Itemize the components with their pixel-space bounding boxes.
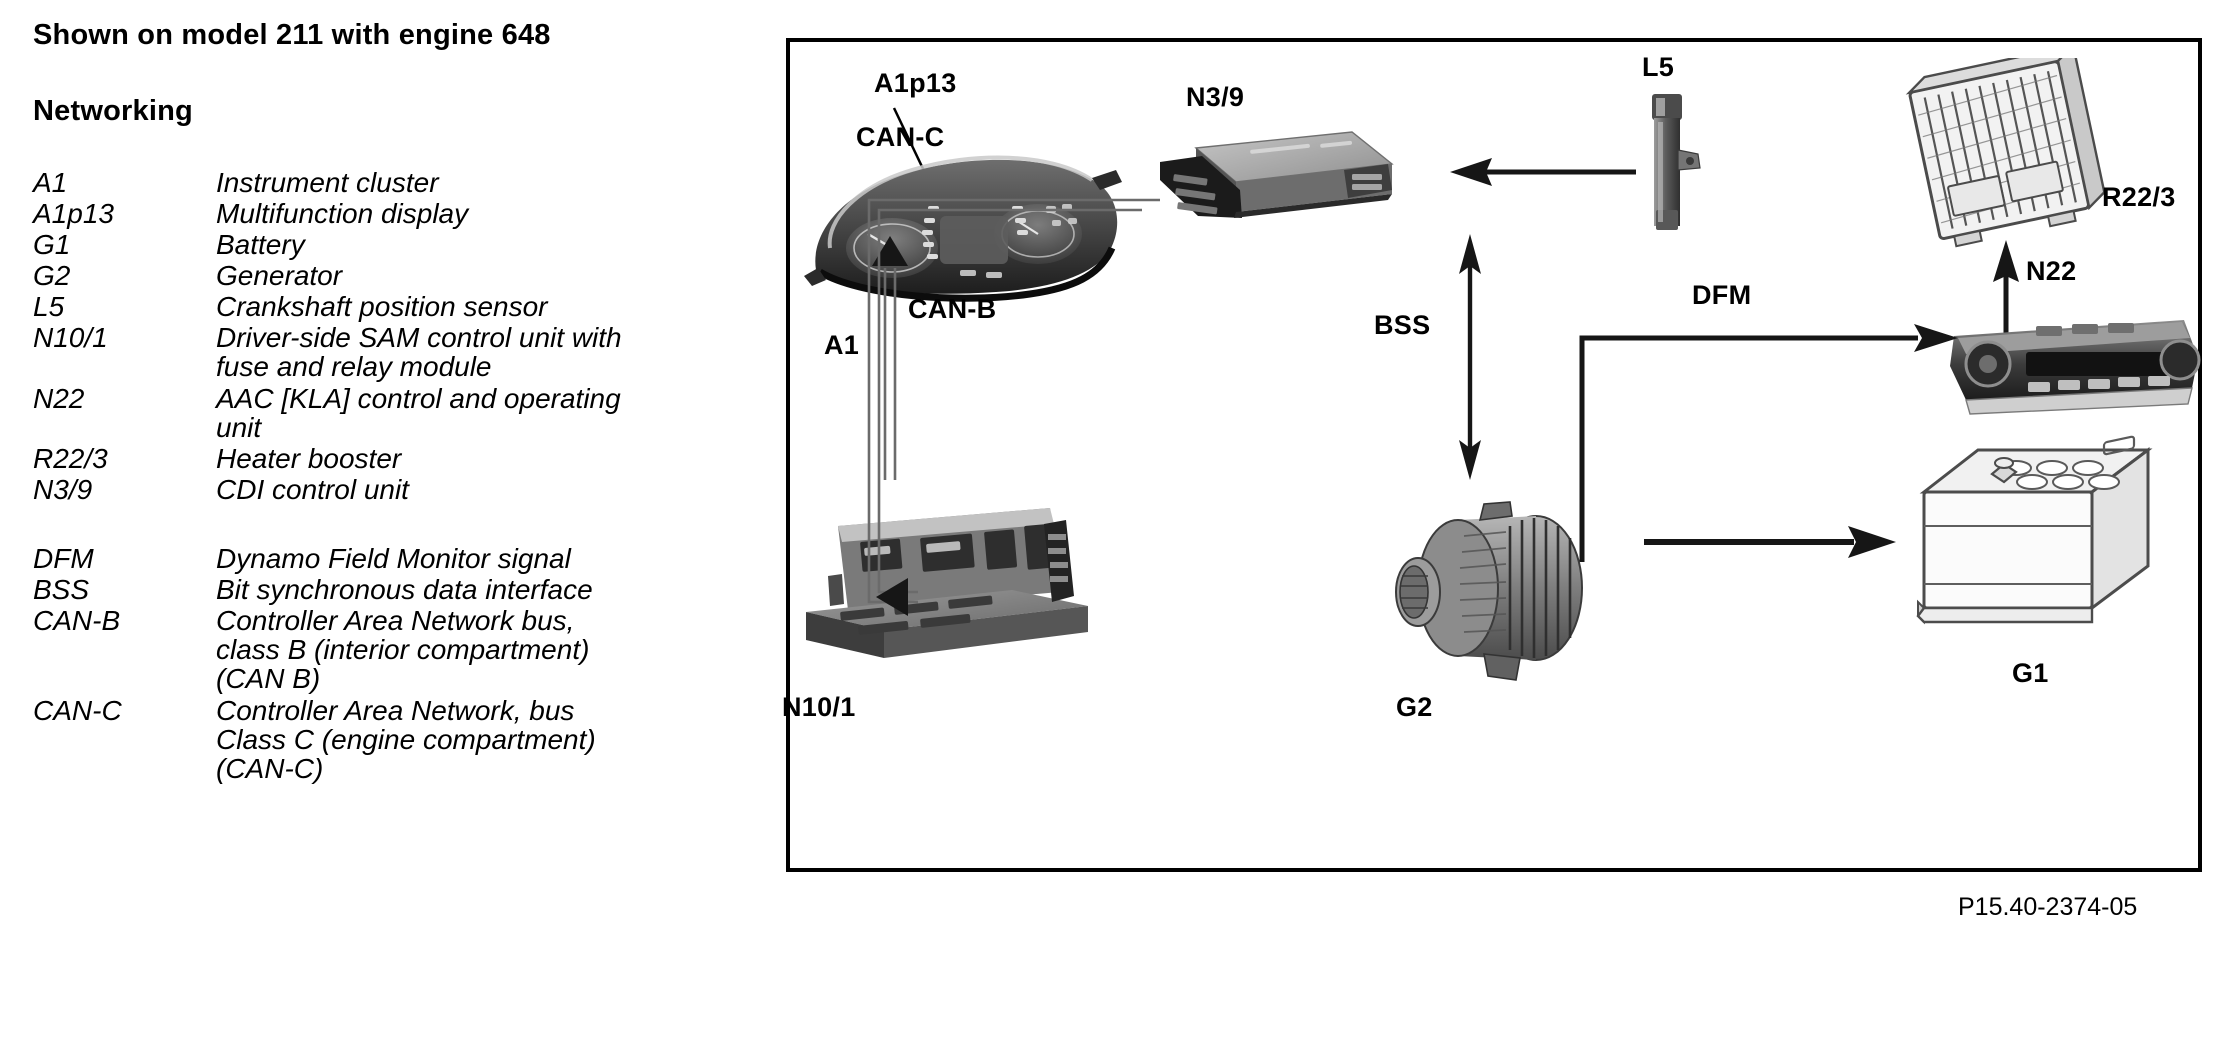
legend-description: Crankshaft position sensor <box>216 292 622 323</box>
generator-image <box>1388 490 1618 690</box>
legend-description: Heater booster <box>216 444 622 475</box>
figure-caption: P15.40-2374-05 <box>1958 893 2137 922</box>
legend-row: CAN-BController Area Network bus, class … <box>33 606 622 695</box>
diagram-panel: A1p13 <box>786 38 2202 872</box>
legend-row: G1Battery <box>33 230 622 261</box>
legend-spacer <box>33 506 622 544</box>
legend-code: CAN-C <box>33 696 216 785</box>
legend-row: N10/1Driver-side SAM control unit with f… <box>33 323 622 383</box>
bss-arrow <box>1450 232 1490 482</box>
legend-code: N10/1 <box>33 323 216 383</box>
legend-row: N22AAC [KLA] control and operating unit <box>33 384 622 444</box>
diagram-label-g2: G2 <box>1396 692 1433 723</box>
legend-description: Multifunction display <box>216 199 622 230</box>
legend-code: N3/9 <box>33 475 216 506</box>
connection-label-dfm: DFM <box>1692 280 1751 311</box>
diagram-label-g1: G1 <box>2012 658 2049 689</box>
diagram-label-l5: L5 <box>1642 52 1674 83</box>
diagram-label-n3-9: N3/9 <box>1186 82 1244 113</box>
legend-row: R22/3Heater booster <box>33 444 622 475</box>
diagram-label-n22: N22 <box>2026 256 2076 287</box>
legend-column: Shown on model 211 with engine 648 Netwo… <box>33 20 733 785</box>
section-title: Networking <box>33 96 733 128</box>
battery-image <box>1900 430 2160 640</box>
legend-row: A1p13Multifunction display <box>33 199 622 230</box>
diagram-label-n10-1: N10/1 <box>782 692 856 723</box>
legend-row: L5Crankshaft position sensor <box>33 292 622 323</box>
legend-description: CDI control unit <box>216 475 622 506</box>
legend-description: Controller Area Network, bus Class C (en… <box>216 696 622 785</box>
diagram-label-a1p13: A1p13 <box>874 68 957 99</box>
legend-description: Dynamo Field Monitor signal <box>216 544 622 575</box>
can-c-arrow <box>790 188 1160 618</box>
legend-code: BSS <box>33 575 216 606</box>
legend-code: R22/3 <box>33 444 216 475</box>
legend-description: Instrument cluster <box>216 168 622 199</box>
legend-code: G2 <box>33 261 216 292</box>
legend-row: CAN-CController Area Network, bus Class … <box>33 696 622 785</box>
legend-code: L5 <box>33 292 216 323</box>
heater-booster-image <box>1890 58 2120 248</box>
cdi-control-unit-image <box>1130 120 1400 250</box>
connection-label-can-c: CAN-C <box>856 122 945 153</box>
legend-description: Generator <box>216 261 622 292</box>
legend-row: A1Instrument cluster <box>33 168 622 199</box>
legend-row: N3/9CDI control unit <box>33 475 622 506</box>
aac-control-unit-image <box>1940 294 2210 424</box>
crankshaft-sensor-image <box>1634 90 1704 235</box>
legend-code: CAN-B <box>33 606 216 695</box>
legend-code: DFM <box>33 544 216 575</box>
legend-row: DFMDynamo Field Monitor signal <box>33 544 622 575</box>
legend-description: AAC [KLA] control and operating unit <box>216 384 622 444</box>
legend-description: Bit synchronous data interface <box>216 575 622 606</box>
generator-to-battery-arrow <box>1640 520 1900 564</box>
connection-label-bss: BSS <box>1374 310 1430 341</box>
page-title: Shown on model 211 with engine 648 <box>33 20 733 52</box>
legend-row: BSSBit synchronous data interface <box>33 575 622 606</box>
legend-code: N22 <box>33 384 216 444</box>
legend-description: Driver-side SAM control unit with fuse a… <box>216 323 622 383</box>
legend-table: A1Instrument clusterA1p13Multifunction d… <box>33 168 622 785</box>
legend-code: A1 <box>33 168 216 199</box>
l5-to-cdi-arrow <box>1448 152 1638 192</box>
legend-description: Battery <box>216 230 622 261</box>
legend-code: G1 <box>33 230 216 261</box>
diagram-label-r22-3: R22/3 <box>2102 182 2176 213</box>
legend-description: Controller Area Network bus, class B (in… <box>216 606 622 695</box>
legend-row: G2Generator <box>33 261 622 292</box>
legend-code: A1p13 <box>33 199 216 230</box>
